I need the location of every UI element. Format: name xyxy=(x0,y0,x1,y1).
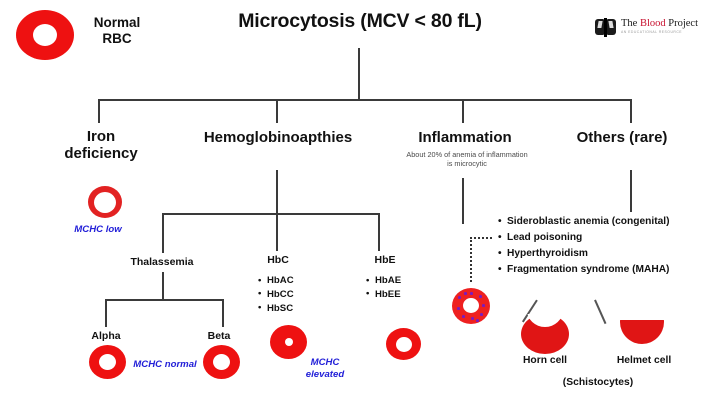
connector-drop-inflammation xyxy=(462,99,464,123)
connector-hemo-bar xyxy=(162,213,380,215)
normal-rbc-label-line1: Normal xyxy=(82,15,152,31)
inflammation-note: About 20% of anemia of inflammationis mi… xyxy=(378,150,556,168)
list-item: HbAC xyxy=(258,274,294,288)
hbe-variant-list: HbAE HbEE xyxy=(366,274,401,302)
the-blood-project-logo: The Blood Project AN EDUCATIONAL RESOURC… xyxy=(595,14,713,40)
list-item: Hyperthyroidism xyxy=(498,246,669,262)
others-rare-list: Sideroblastic anemia (congenital) Lead p… xyxy=(498,214,669,278)
connector-others-stem xyxy=(630,170,632,212)
schistocytes-caption: (Schistocytes) xyxy=(528,377,668,389)
annotation-mchc-normal: MCHC normal xyxy=(122,359,208,371)
iron-deficiency-rbc-icon xyxy=(88,186,122,218)
connector-drop-hemoglobinopathies xyxy=(276,99,278,123)
mchc-elevated-line2: elevated xyxy=(297,369,353,381)
alpha-thalassemia-rbc-icon xyxy=(89,345,126,379)
node-beta-thalassemia: Beta xyxy=(188,330,250,342)
node-iron-deficiency: Iron deficiency xyxy=(58,128,144,163)
normal-rbc-cell-icon xyxy=(16,10,74,60)
connector-thal-drop-beta xyxy=(222,299,224,327)
sideroblastic-stippled-rbc-icon xyxy=(452,288,490,324)
connector-drop-iron xyxy=(98,99,100,123)
node-inflammation: Inflammation xyxy=(400,129,530,146)
helmet-cell-label: Helmet cell xyxy=(600,355,688,367)
microcytosis-diagram: Microcytosis (MCV < 80 fL) The Blood Pro… xyxy=(0,0,720,404)
open-book-icon xyxy=(595,18,616,37)
list-item: HbSC xyxy=(258,302,294,316)
node-thalassemia: Thalassemia xyxy=(112,256,212,268)
hbc-rbc-icon xyxy=(270,325,307,359)
connector-thal-bar xyxy=(105,299,224,301)
horn-cell-label: Horn cell xyxy=(505,355,585,367)
hbe-rbc-icon xyxy=(386,328,421,360)
logo-word-the: The xyxy=(621,18,640,29)
horn-cell-icon xyxy=(521,314,569,354)
iron-deficiency-line1: Iron xyxy=(58,128,144,145)
list-item: HbAE xyxy=(366,274,401,288)
connector-hemo-drop-hbc xyxy=(276,213,278,251)
list-item: Lead poisoning xyxy=(498,230,669,246)
connector-main-bar xyxy=(98,99,632,101)
hbc-variant-list: HbAC HbCC HbSC xyxy=(258,274,294,316)
list-item: HbCC xyxy=(258,288,294,302)
node-hemoglobinopathies: Hemoglobinoapthies xyxy=(178,129,378,146)
connector-drop-others xyxy=(630,99,632,123)
connector-thal-drop-alpha xyxy=(105,299,107,327)
logo-word-project: Project xyxy=(666,18,698,29)
connector-hemo-stem xyxy=(276,170,278,214)
node-others-rare: Others (rare) xyxy=(552,129,692,146)
logo-title: The Blood Project xyxy=(621,19,698,30)
connector-inflammation-stem xyxy=(462,178,464,224)
annotation-mchc-low: MCHC low xyxy=(62,224,134,236)
helmet-cell-icon xyxy=(620,320,664,344)
normal-rbc-label: Normal RBC xyxy=(82,15,152,46)
connector-hemo-drop-hbe xyxy=(378,213,380,251)
connector-thal-stem xyxy=(162,272,164,300)
connector-dotted-horizontal xyxy=(470,237,492,239)
connector-hemo-drop-thalassemia xyxy=(162,213,164,253)
mchc-elevated-line1: MCHC xyxy=(297,357,353,369)
list-item: Sideroblastic anemia (congenital) xyxy=(498,214,669,230)
node-alpha-thalassemia: Alpha xyxy=(75,330,137,342)
connector-dotted-vertical xyxy=(470,237,472,282)
annotation-mchc-elevated: MCHC elevated xyxy=(297,357,353,380)
iron-deficiency-line2: deficiency xyxy=(58,145,144,162)
beta-thalassemia-rbc-icon xyxy=(203,345,240,379)
connector-root-stem xyxy=(358,48,360,100)
list-item: Fragmentation syndrome (MAHA) xyxy=(498,262,669,278)
logo-word-blood: Blood xyxy=(640,18,666,29)
logo-tagline: AN EDUCATIONAL RESOURCE xyxy=(621,31,698,34)
page-title: Microcytosis (MCV < 80 fL) xyxy=(215,10,505,32)
node-hbc: HbC xyxy=(248,254,308,266)
normal-rbc-label-line2: RBC xyxy=(82,31,152,47)
list-item: HbEE xyxy=(366,288,401,302)
node-hbe: HbE xyxy=(355,254,415,266)
connector-schisto-right xyxy=(594,300,606,324)
